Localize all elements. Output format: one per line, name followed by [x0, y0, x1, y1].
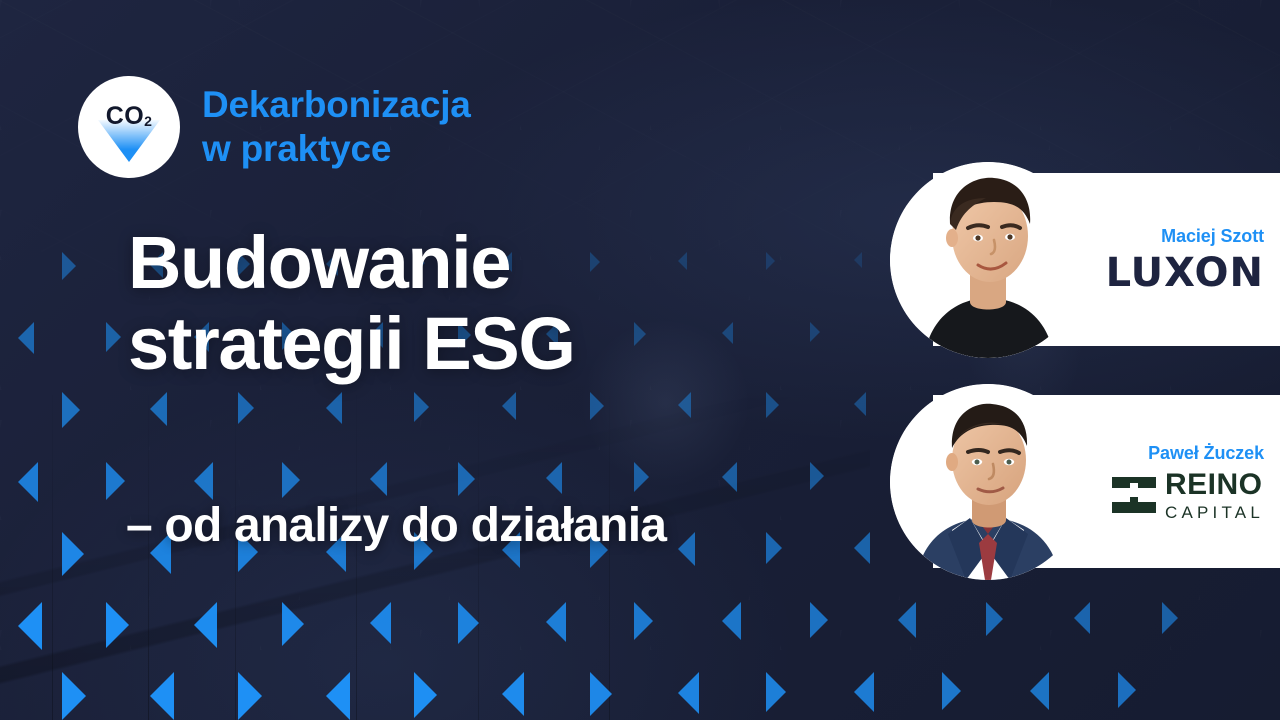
speaker-name: Maciej Szott: [1161, 226, 1264, 247]
reino-wordmark: REINO CAPITAL: [1165, 470, 1264, 521]
reino-subtitle: CAPITAL: [1165, 504, 1264, 521]
co2-logo-text: CO2: [78, 102, 180, 131]
page-subtitle: – od analizy do działania: [126, 500, 666, 553]
brand-title-line2: w praktyce: [202, 127, 471, 171]
brand-title: Dekarbonizacja w praktyce: [202, 83, 471, 170]
speaker-card-2-body: Paweł Żuczek REINO CAPITAL: [1095, 395, 1264, 568]
speaker-name: Paweł Żuczek: [1148, 443, 1264, 464]
slide-canvas: CO2 Dekarbonizacja w praktyce Budowanie …: [0, 0, 1280, 720]
speaker-card-1-body: Maciej Szott LUXON: [1095, 173, 1264, 346]
avatar: [890, 162, 1086, 358]
co2-down-arrow-logo: CO2: [78, 76, 180, 178]
reino-name: REINO: [1165, 470, 1264, 500]
page-title-line1: Budowanie: [128, 222, 575, 303]
speaker-1-portrait: [890, 162, 1086, 358]
reino-capital-logo: REINO CAPITAL: [1112, 470, 1264, 521]
brand-title-line1: Dekarbonizacja: [202, 83, 471, 127]
avatar: [890, 384, 1086, 580]
reino-mark-icon: [1112, 475, 1156, 515]
speaker-2-portrait: [890, 384, 1086, 580]
speaker-card-2: Paweł Żuczek REINO CAPITAL: [933, 395, 1280, 568]
page-title-line2: strategii ESG: [128, 303, 575, 384]
speaker-card-1: Maciej Szott LUXON: [933, 173, 1280, 346]
page-title: Budowanie strategii ESG: [128, 222, 575, 385]
luxon-logo: LUXON: [1106, 253, 1264, 293]
brand-lockup: CO2 Dekarbonizacja w praktyce: [78, 76, 471, 178]
